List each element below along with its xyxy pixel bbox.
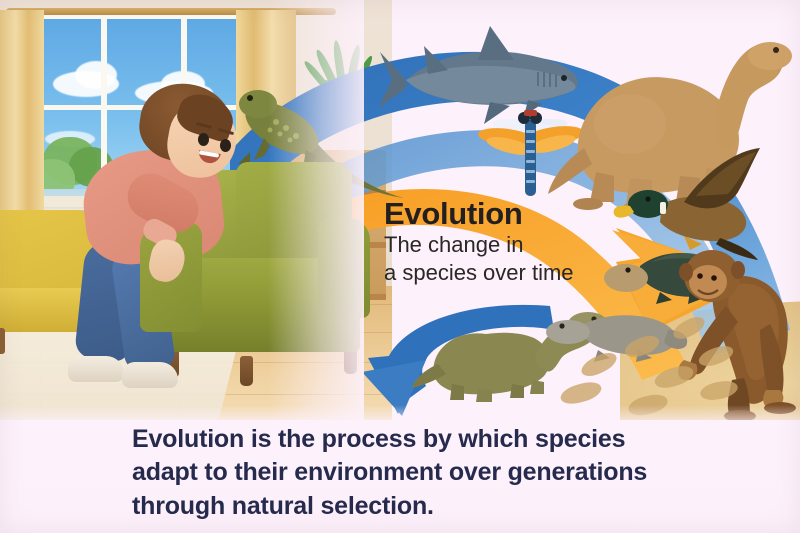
- lizard-head: [239, 90, 277, 118]
- komodo-eye: [559, 323, 564, 328]
- sofa-leg: [240, 356, 253, 386]
- person-shoe-front: [122, 362, 178, 388]
- sauropod-head: [748, 42, 792, 70]
- illustration-canvas: Evolution The change in a species over t…: [0, 0, 800, 533]
- evolution-title: Evolution: [384, 198, 634, 231]
- sofa-arm-right: [318, 218, 370, 318]
- armchair-leg: [0, 328, 5, 354]
- duck-neck-ring: [660, 202, 666, 214]
- lizard-eye: [247, 95, 253, 101]
- sauropod-eye: [773, 47, 779, 53]
- caption-line-1: Evolution is the process by which specie…: [132, 423, 732, 456]
- caption-text: Evolution is the process by which specie…: [132, 423, 732, 523]
- ape-ear: [731, 261, 745, 279]
- person-shoe-back: [68, 356, 124, 382]
- duck-eye: [645, 196, 650, 201]
- caption-line-2: adapt to their environment over generati…: [132, 456, 732, 489]
- evolution-subtitle-line1: The change in: [384, 231, 634, 259]
- evolution-subtitle-line2: a species over time: [384, 259, 634, 287]
- komodo-head: [546, 320, 590, 344]
- person-eye: [220, 139, 231, 152]
- shark-dorsal-fin: [478, 26, 514, 60]
- ape-ear: [679, 263, 693, 281]
- person-eye: [198, 133, 209, 146]
- curtain-left: [0, 10, 44, 235]
- ape-eye: [711, 275, 717, 281]
- ape-eye: [697, 273, 703, 279]
- caption-band: Evolution is the process by which specie…: [0, 405, 800, 533]
- caption-line-3: through natural selection.: [132, 490, 732, 523]
- komodo-dragon: [540, 288, 690, 364]
- evolution-title-block: Evolution The change in a species over t…: [384, 198, 634, 287]
